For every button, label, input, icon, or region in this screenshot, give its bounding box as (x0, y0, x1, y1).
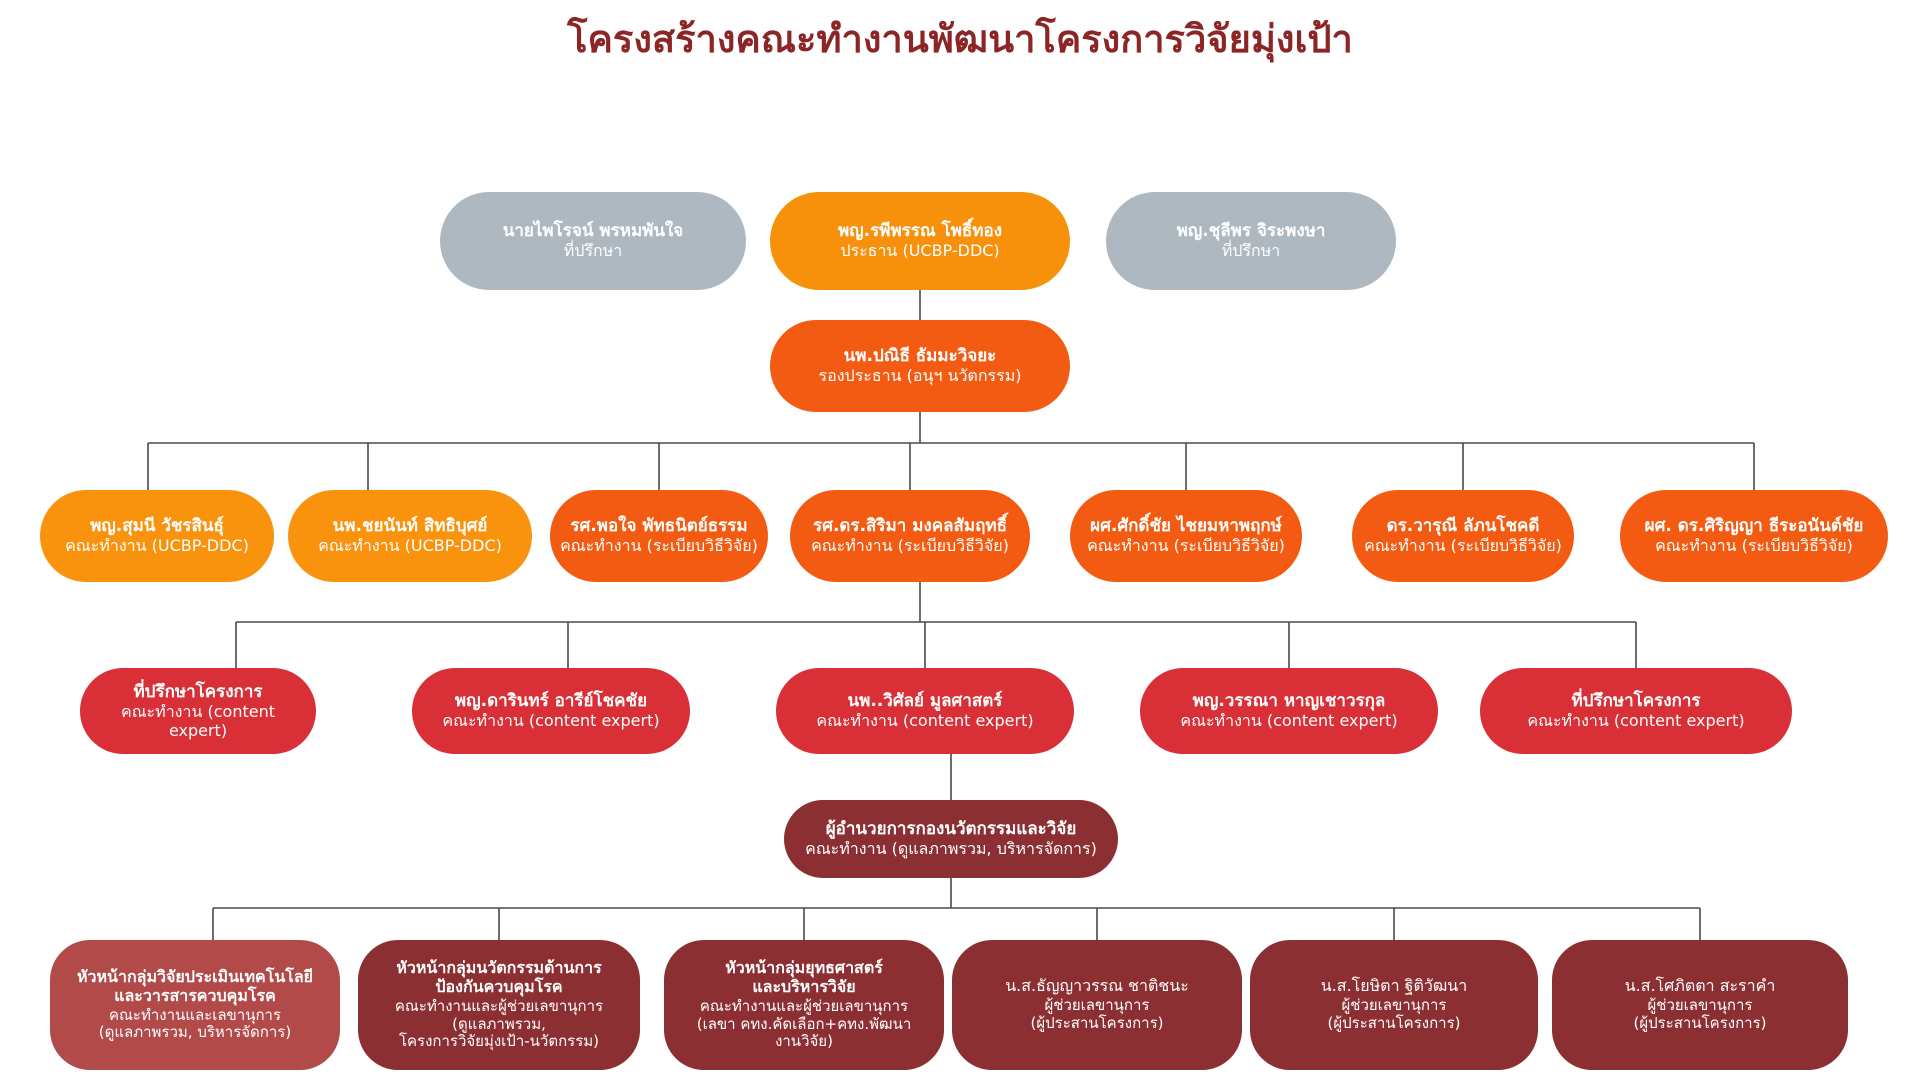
node-role: คณะทำงาน (ดูแลภาพรวม, บริหารจัดการ) (805, 840, 1097, 859)
node-member-6[interactable]: ผศ. ดร.ศิริญญา ธีระอนันต์ชัย คณะทำงาน (ร… (1620, 490, 1888, 582)
node-role: รองประธาน (อนุฯ นวัตกรรม) (819, 367, 1022, 386)
node-name: ที่ปรึกษาโครงการ (1571, 691, 1700, 711)
node-role: คณะทำงานและผู้ช่วยเลขานุการ (เลขา คทง.คั… (697, 998, 912, 1051)
node-content-expert-1[interactable]: พญ.ดารินทร์ อารีย์โชคชัย คณะทำงาน (conte… (412, 668, 690, 754)
node-advisor-left[interactable]: นายไพโรจน์ พรหมพันใจ ที่ปรึกษา (440, 192, 746, 290)
node-role: คณะทำงาน (ระเบียบวิธีวิจัย) (811, 537, 1009, 556)
node-name: รศ.ดร.สิริมา มงคลสัมฤทธิ์ (813, 516, 1007, 536)
node-role: ผู้ช่วยเลขานุการ (ผู้ประสานโครงการ) (1328, 997, 1461, 1032)
node-member-2[interactable]: รศ.พอใจ พัทธนิตย์ธรรม คณะทำงาน (ระเบียบว… (550, 490, 768, 582)
node-member-3[interactable]: รศ.ดร.สิริมา มงคลสัมฤทธิ์ คณะทำงาน (ระเบ… (790, 490, 1030, 582)
node-name: นายไพโรจน์ พรหมพันใจ (503, 221, 683, 241)
node-name: พญ.วรรณา หาญเชาวรกุล (1193, 691, 1386, 711)
node-role: คณะทำงาน (content expert) (1527, 712, 1744, 731)
node-role: ที่ปรึกษา (564, 242, 623, 261)
node-name: น.ส.ธัญญาวรรณ ชาติชนะ (1005, 977, 1189, 996)
node-role: ผู้ช่วยเลขานุการ (ผู้ประสานโครงการ) (1634, 997, 1767, 1032)
node-role: คณะทำงาน (content expert) (90, 703, 306, 741)
node-name: พญ.ชุลีพร จิระพงษา (1177, 221, 1326, 241)
page-title: โครงสร้างคณะทำงานพัฒนาโครงการวิจัยมุ่งเป… (0, 16, 1920, 64)
node-role: คณะทำงาน (content expert) (442, 712, 659, 731)
node-role: คณะทำงาน (UCBP-DDC) (65, 537, 249, 556)
node-content-expert-0[interactable]: ที่ปรึกษาโครงการ คณะทำงาน (content exper… (80, 668, 316, 754)
node-role: คณะทำงาน (ระเบียบวิธีวิจัย) (1655, 537, 1853, 556)
org-chart-canvas: โครงสร้างคณะทำงานพัฒนาโครงการวิจัยมุ่งเป… (0, 0, 1920, 1080)
node-name: รศ.พอใจ พัทธนิตย์ธรรม (570, 516, 747, 536)
node-name: ผศ.ศักดิ์ชัย ไชยมหาพฤกษ์ (1090, 516, 1282, 536)
node-name: หัวหน้ากลุ่มนวัตกรรมด้านการ ป้องกันควบคุ… (396, 959, 601, 997)
node-member-5[interactable]: ดร.วารุณี ลัภนโชคดี คณะทำงาน (ระเบียบวิธ… (1352, 490, 1574, 582)
node-member-0[interactable]: พญ.สุมนี วัชรสินธุ์ คณะทำงาน (UCBP-DDC) (40, 490, 274, 582)
node-name: ผู้อำนวยการกองนวัตกรรมและวิจัย (826, 819, 1077, 839)
node-role: ที่ปรึกษา (1222, 242, 1281, 261)
node-chairperson[interactable]: พญ.รพีพรรณ โพธิ์ทอง ประธาน (UCBP-DDC) (770, 192, 1070, 290)
node-name: นพ.ปณิธี ธัมมะวิจยะ (844, 346, 997, 366)
node-director[interactable]: ผู้อำนวยการกองนวัตกรรมและวิจัย คณะทำงาน … (784, 800, 1118, 878)
node-secretariat-2[interactable]: หัวหน้ากลุ่มยุทธศาสตร์ และบริหารวิจัย คณ… (664, 940, 944, 1070)
node-content-expert-2[interactable]: นพ..วิศัลย์ มูลศาสตร์ คณะทำงาน (content … (776, 668, 1074, 754)
node-content-expert-3[interactable]: พญ.วรรณา หาญเชาวรกุล คณะทำงาน (content e… (1140, 668, 1438, 754)
node-role: คณะทำงาน (ระเบียบวิธีวิจัย) (1364, 537, 1562, 556)
node-name: ที่ปรึกษาโครงการ (133, 682, 262, 702)
node-name: หัวหน้ากลุ่มวิจัยประเมินเทคโนโลยี และวาร… (77, 968, 313, 1006)
node-name: นพ.ชยนันท์ สิทธิบุศย์ (333, 516, 488, 536)
node-secretariat-3[interactable]: น.ส.ธัญญาวรรณ ชาติชนะ ผู้ช่วยเลขานุการ (… (952, 940, 1242, 1070)
node-role: คณะทำงานและเลขานุการ (ดูแลภาพรวม, บริหาร… (99, 1007, 291, 1042)
node-secretariat-0[interactable]: หัวหน้ากลุ่มวิจัยประเมินเทคโนโลยี และวาร… (50, 940, 340, 1070)
node-role: คณะทำงานและผู้ช่วยเลขานุการ (ดูแลภาพรวม,… (395, 998, 603, 1051)
node-role: ผู้ช่วยเลขานุการ (ผู้ประสานโครงการ) (1031, 997, 1164, 1032)
node-member-4[interactable]: ผศ.ศักดิ์ชัย ไชยมหาพฤกษ์ คณะทำงาน (ระเบี… (1070, 490, 1302, 582)
node-name: น.ส.โศภิตตา สะราคำ (1625, 977, 1776, 996)
node-role: คณะทำงาน (UCBP-DDC) (318, 537, 502, 556)
node-name: ดร.วารุณี ลัภนโชคดี (1387, 516, 1540, 536)
node-role: คณะทำงาน (ระเบียบวิธีวิจัย) (1087, 537, 1285, 556)
node-name: นพ..วิศัลย์ มูลศาสตร์ (848, 691, 1003, 711)
node-advisor-right[interactable]: พญ.ชุลีพร จิระพงษา ที่ปรึกษา (1106, 192, 1396, 290)
node-secretariat-5[interactable]: น.ส.โศภิตตา สะราคำ ผู้ช่วยเลขานุการ (ผู้… (1552, 940, 1848, 1070)
node-name: พญ.สุมนี วัชรสินธุ์ (90, 516, 224, 536)
node-role: คณะทำงาน (content expert) (1180, 712, 1397, 731)
node-name: ผศ. ดร.ศิริญญา ธีระอนันต์ชัย (1645, 516, 1864, 536)
node-member-1[interactable]: นพ.ชยนันท์ สิทธิบุศย์ คณะทำงาน (UCBP-DDC… (288, 490, 532, 582)
node-name: น.ส.โยษิตา ฐิติวัฒนา (1321, 977, 1467, 996)
node-role: ประธาน (UCBP-DDC) (840, 242, 999, 261)
node-content-expert-4[interactable]: ที่ปรึกษาโครงการ คณะทำงาน (content exper… (1480, 668, 1792, 754)
node-secretariat-1[interactable]: หัวหน้ากลุ่มนวัตกรรมด้านการ ป้องกันควบคุ… (358, 940, 640, 1070)
node-vice-chairperson[interactable]: นพ.ปณิธี ธัมมะวิจยะ รองประธาน (อนุฯ นวัต… (770, 320, 1070, 412)
node-name: พญ.ดารินทร์ อารีย์โชคชัย (455, 691, 647, 711)
node-role: คณะทำงาน (content expert) (816, 712, 1033, 731)
node-secretariat-4[interactable]: น.ส.โยษิตา ฐิติวัฒนา ผู้ช่วยเลขานุการ (ผ… (1250, 940, 1538, 1070)
node-name: พญ.รพีพรรณ โพธิ์ทอง (838, 221, 1002, 241)
node-name: หัวหน้ากลุ่มยุทธศาสตร์ และบริหารวิจัย (725, 959, 883, 997)
node-role: คณะทำงาน (ระเบียบวิธีวิจัย) (560, 537, 758, 556)
